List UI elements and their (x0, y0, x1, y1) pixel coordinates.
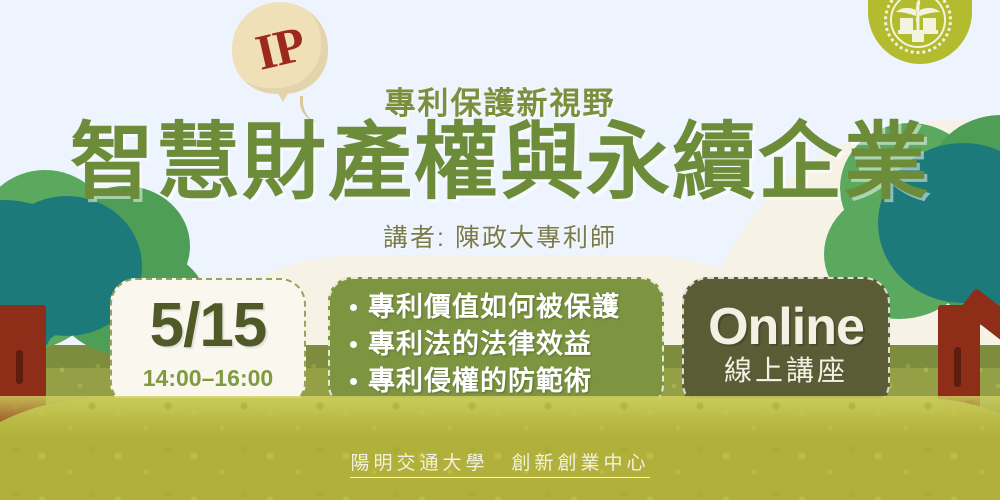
bullet-dot-icon (350, 304, 357, 311)
event-poster: IP 專利保護新視野 智慧財產權與永續企業 講者: 陳政大專利師 5/15 14… (0, 0, 1000, 500)
topic-label: 專利侵權的防範術 (368, 368, 592, 395)
date-card: 5/15 14:00–16:00 (110, 278, 306, 408)
bullet-dot-icon (350, 378, 357, 385)
bullet-dot-icon (350, 341, 357, 348)
footer-organizer-label: 陽明交通大學 創新創業中心 (350, 448, 649, 478)
event-time: 14:00–16:00 (143, 365, 273, 392)
footer-organizer: 陽明交通大學 創新創業中心 (0, 448, 1000, 478)
online-label-en: Online (708, 301, 864, 353)
event-date: 5/15 (150, 295, 267, 357)
topics-card: 專利價值如何被保護 專利法的法律效益 專利侵權的防範術 (328, 277, 664, 409)
poster-title: 智慧財產權與永續企業 (0, 120, 1000, 204)
emblem-crest-glyph (892, 0, 944, 46)
list-item: 專利法的法律效益 (350, 326, 662, 363)
online-label-zh: 線上講座 (724, 357, 848, 385)
topic-label: 專利法的法律效益 (368, 331, 592, 358)
speaker-line: 講者: 陳政大專利師 (0, 218, 1000, 254)
online-card: Online 線上講座 (682, 277, 890, 409)
topic-label: 專利價值如何被保護 (368, 294, 620, 321)
list-item: 專利價值如何被保護 (350, 289, 662, 326)
list-item: 專利侵權的防範術 (350, 363, 662, 400)
